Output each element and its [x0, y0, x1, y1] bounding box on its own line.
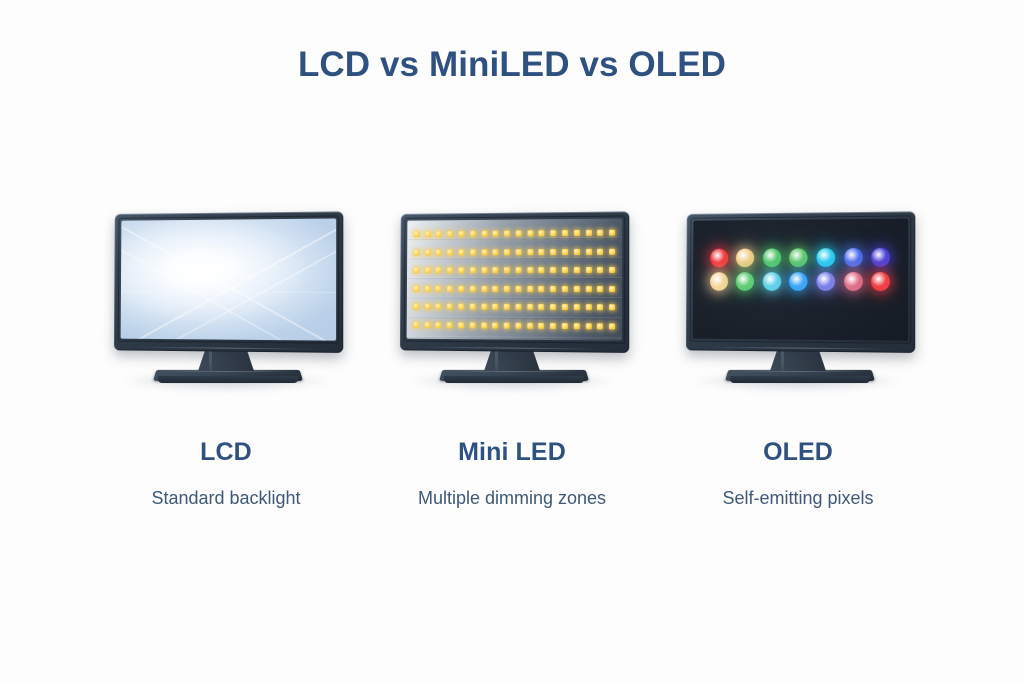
mini-led-dot [586, 249, 592, 255]
mini-led-dot [424, 322, 430, 328]
mini-led-dot [527, 249, 533, 255]
mini-led-dot [562, 304, 568, 310]
mini-led-dot [550, 267, 556, 273]
mini-led-dot [562, 230, 568, 236]
monitor-bezel [686, 211, 915, 353]
oled-pixel-grid [705, 245, 894, 294]
oled-pixel [710, 273, 728, 292]
mini-led-dot [539, 249, 545, 255]
mini-led-dot [425, 249, 431, 255]
mini-led-dot [493, 267, 499, 273]
mini-led-dot [539, 286, 545, 292]
card-subtitle-oled: Self-emitting pixels [722, 489, 873, 507]
mini-led-dot [425, 286, 431, 292]
mini-led-grid [407, 218, 623, 340]
oled-pixel [789, 272, 808, 291]
mini-led-dot [447, 286, 453, 292]
mini-led-dot [527, 267, 533, 273]
mini-led-dot [539, 267, 545, 273]
mini-led-dot [414, 231, 420, 237]
mini-led-dot [516, 267, 522, 273]
mini-led-dot [493, 231, 499, 237]
mini-led-dot [527, 231, 533, 237]
infographic-root: LCD vs MiniLED vs OLED LCD Standard back… [0, 0, 1024, 683]
mini-led-dot [515, 286, 521, 292]
mini-led-dot [597, 304, 603, 310]
comparison-card-row: LCD Standard backlight Mini LED Multiple… [0, 212, 1024, 507]
screen-lcd [121, 218, 337, 340]
mini-led-dot [504, 231, 510, 237]
mini-led-dot [493, 286, 499, 292]
mini-led-dot [458, 286, 464, 292]
mini-led-dot [447, 249, 453, 255]
mini-led-dot [470, 286, 476, 292]
oled-pixel [816, 272, 835, 291]
mini-led-dot [550, 230, 556, 236]
mini-led-dot [597, 249, 603, 255]
mini-led-dot [574, 230, 580, 236]
oled-pixel [736, 249, 754, 268]
oled-pixel [817, 248, 836, 267]
monitor-miniled [392, 212, 632, 397]
monitor-stand-lip [158, 376, 298, 383]
mini-led-dot [414, 250, 420, 256]
mini-led-dot [459, 231, 465, 237]
mini-led-dot [597, 267, 603, 273]
mini-led-dot [459, 249, 465, 255]
card-subtitle-miniled: Multiple dimming zones [418, 489, 606, 507]
card-heading-lcd: LCD [200, 440, 252, 465]
mini-led-dot [562, 323, 568, 329]
page-title: LCD vs MiniLED vs OLED [0, 45, 1024, 85]
mini-led-dot [436, 322, 442, 328]
mini-led-dot [481, 286, 487, 292]
mini-led-dot [597, 230, 603, 236]
mini-led-dot [424, 304, 430, 310]
oled-pixel [763, 272, 782, 291]
mini-led-dot [447, 304, 453, 310]
mini-led-dot [539, 323, 545, 329]
mini-led-dot [504, 267, 510, 273]
card-oled[interactable]: OLED Self-emitting pixels [655, 212, 941, 507]
oled-pixel [871, 248, 890, 267]
monitor-stand-lip [444, 376, 584, 383]
card-miniled[interactable]: Mini LED Multiple dimming zones [369, 212, 655, 507]
mini-led-dot [550, 249, 556, 255]
mini-led-dot [515, 304, 521, 310]
mini-led-dot [585, 323, 591, 329]
mini-led-dot [481, 249, 487, 255]
mini-led-dot [481, 322, 487, 328]
mini-led-dot [585, 267, 591, 273]
mini-led-dot [574, 249, 580, 255]
mini-led-dot [609, 267, 615, 273]
card-subtitle-lcd: Standard backlight [151, 489, 300, 507]
mini-led-dot [550, 323, 556, 329]
mini-led-dot [436, 304, 442, 310]
card-lcd[interactable]: LCD Standard backlight [83, 212, 369, 507]
mini-led-dot [586, 230, 592, 236]
mini-led-dot [597, 323, 603, 329]
mini-led-dot [609, 248, 615, 254]
oled-pixel [736, 273, 754, 292]
mini-led-dot [539, 304, 545, 310]
oled-pixel [789, 248, 808, 267]
mini-led-dot [425, 268, 431, 274]
monitor-lcd [106, 212, 346, 397]
mini-led-dot [492, 322, 498, 328]
monitor-oled [678, 212, 918, 397]
mini-led-dot [585, 304, 591, 310]
mini-led-dot [413, 322, 419, 328]
mini-led-dot [562, 249, 568, 255]
mini-led-dot [609, 323, 615, 329]
mini-led-dot [516, 231, 522, 237]
mini-led-dot [413, 286, 419, 292]
mini-led-dot [458, 267, 464, 273]
mini-led-dot [470, 231, 476, 237]
mini-led-dot [481, 304, 487, 310]
mini-led-dot [597, 286, 603, 292]
mini-led-dot [458, 322, 464, 328]
mini-led-dot [539, 230, 545, 236]
oled-pixel [871, 272, 890, 291]
mini-led-dot [504, 249, 510, 255]
mini-led-dot [458, 304, 464, 310]
mini-led-dot [447, 231, 453, 237]
screen-miniled [407, 218, 623, 340]
mini-led-dot [470, 267, 476, 273]
mini-led-dot [527, 286, 533, 292]
mini-led-dot [447, 322, 453, 328]
mini-led-dot [436, 286, 442, 292]
mini-led-dot [447, 268, 453, 274]
mini-led-dot [550, 304, 556, 310]
mini-led-dot [414, 268, 420, 274]
mini-led-dot [609, 304, 615, 310]
mini-led-dot [515, 323, 521, 329]
mini-led-dot [504, 322, 510, 328]
monitor-bezel [400, 211, 629, 353]
mini-led-dot [574, 267, 580, 273]
mini-led-dot [562, 267, 568, 273]
monitor-stand-lip [730, 376, 870, 383]
mini-led-dot [470, 249, 476, 255]
mini-led-dot [574, 304, 580, 310]
mini-led-dot [425, 231, 431, 237]
mini-led-dot [504, 286, 510, 292]
mini-led-dot [609, 286, 615, 292]
mini-led-dot [436, 249, 442, 255]
mini-led-dot [436, 231, 442, 237]
oled-pixel [763, 249, 781, 268]
mini-led-dot [562, 286, 568, 292]
mini-led-dot [413, 304, 419, 310]
mini-led-dot [481, 267, 487, 273]
oled-pixel [710, 249, 728, 268]
mini-led-dot [481, 231, 487, 237]
mini-led-dot [527, 323, 533, 329]
card-heading-miniled: Mini LED [458, 440, 566, 465]
card-heading-oled: OLED [763, 440, 833, 465]
mini-led-dot [527, 304, 533, 310]
mini-led-dot [470, 322, 476, 328]
oled-pixel [844, 272, 863, 291]
mini-led-dot [516, 249, 522, 255]
oled-pixel [844, 248, 863, 267]
mini-led-dot [609, 230, 615, 236]
mini-led-dot [492, 304, 498, 310]
mini-led-dot [574, 286, 580, 292]
monitor-bezel [114, 211, 343, 353]
mini-led-dot [585, 286, 591, 292]
mini-led-dot [470, 304, 476, 310]
mini-led-dot [493, 249, 499, 255]
mini-led-dot [574, 323, 580, 329]
mini-led-dot [504, 304, 510, 310]
mini-led-dot [550, 286, 556, 292]
mini-led-dot [436, 268, 442, 274]
backlight-rays [121, 218, 337, 340]
screen-oled [693, 218, 909, 340]
